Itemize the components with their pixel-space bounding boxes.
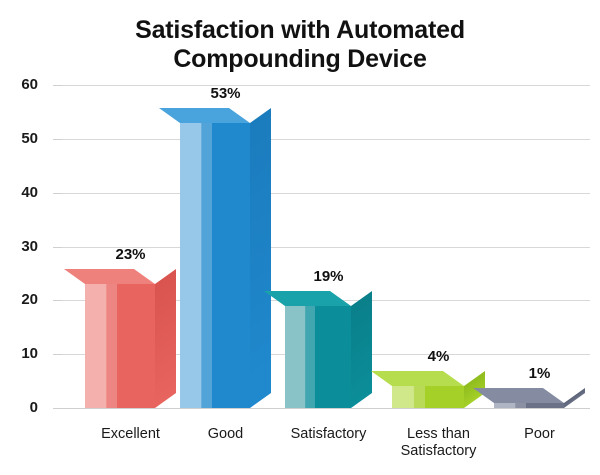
- y-tick-stub-40: [53, 193, 62, 194]
- bar-value-label-excellent: 23%: [96, 246, 166, 263]
- bar-value-label-poor: 1%: [505, 365, 575, 382]
- bar-front-face: [85, 284, 155, 408]
- bar-front-face: [392, 386, 464, 408]
- bar-value-label-satisfactory: 19%: [296, 268, 362, 285]
- bar-side-face: [250, 108, 271, 408]
- bar-chart: Satisfaction with Automated Compounding …: [0, 0, 600, 475]
- bar-front-face: [285, 306, 351, 408]
- y-axis-label-60: 60: [0, 76, 38, 93]
- bar-highlight: [180, 123, 212, 408]
- y-tick-stub-20: [53, 300, 62, 301]
- y-axis-label-0: 0: [0, 399, 38, 416]
- bar-highlight: [494, 403, 526, 408]
- bar-satisfactory[interactable]: [285, 291, 351, 408]
- bar-value-label-less-than-satisfactory: 4%: [403, 348, 475, 365]
- bar-excellent[interactable]: [85, 269, 155, 408]
- y-axis-label-30: 30: [0, 238, 38, 255]
- bar-side-face: [155, 269, 176, 408]
- y-tick-stub-60: [53, 85, 62, 86]
- bar-less-than-satisfactory[interactable]: [392, 371, 464, 408]
- x-axis-label-poor: Poor: [480, 426, 600, 443]
- y-tick-stub-10: [53, 354, 62, 355]
- y-tick-stub-30: [53, 247, 62, 248]
- x-axis-label-satisfactory: Satisfactory: [269, 426, 389, 443]
- bar-value-label-good: 53%: [191, 85, 261, 102]
- bar-highlight: [285, 306, 315, 408]
- gridline-0: [62, 408, 590, 409]
- y-axis-label-10: 10: [0, 345, 38, 362]
- bar-poor[interactable]: [494, 388, 564, 408]
- bar-side-face: [351, 291, 372, 408]
- chart-title: Satisfaction with Automated Compounding …: [0, 16, 600, 75]
- gridline-40: [62, 193, 590, 194]
- y-tick-stub-50: [53, 139, 62, 140]
- bar-good[interactable]: [180, 108, 250, 408]
- y-axis-label-50: 50: [0, 130, 38, 147]
- x-axis-label-good: Good: [166, 426, 286, 443]
- bar-highlight: [392, 386, 425, 408]
- y-axis-label-40: 40: [0, 184, 38, 201]
- y-axis-label-20: 20: [0, 291, 38, 308]
- bar-front-face: [494, 403, 564, 408]
- y-tick-stub-0: [53, 408, 62, 409]
- gridline-60: [62, 85, 590, 86]
- bar-highlight: [85, 284, 117, 408]
- gridline-50: [62, 139, 590, 140]
- bar-front-face: [180, 123, 250, 408]
